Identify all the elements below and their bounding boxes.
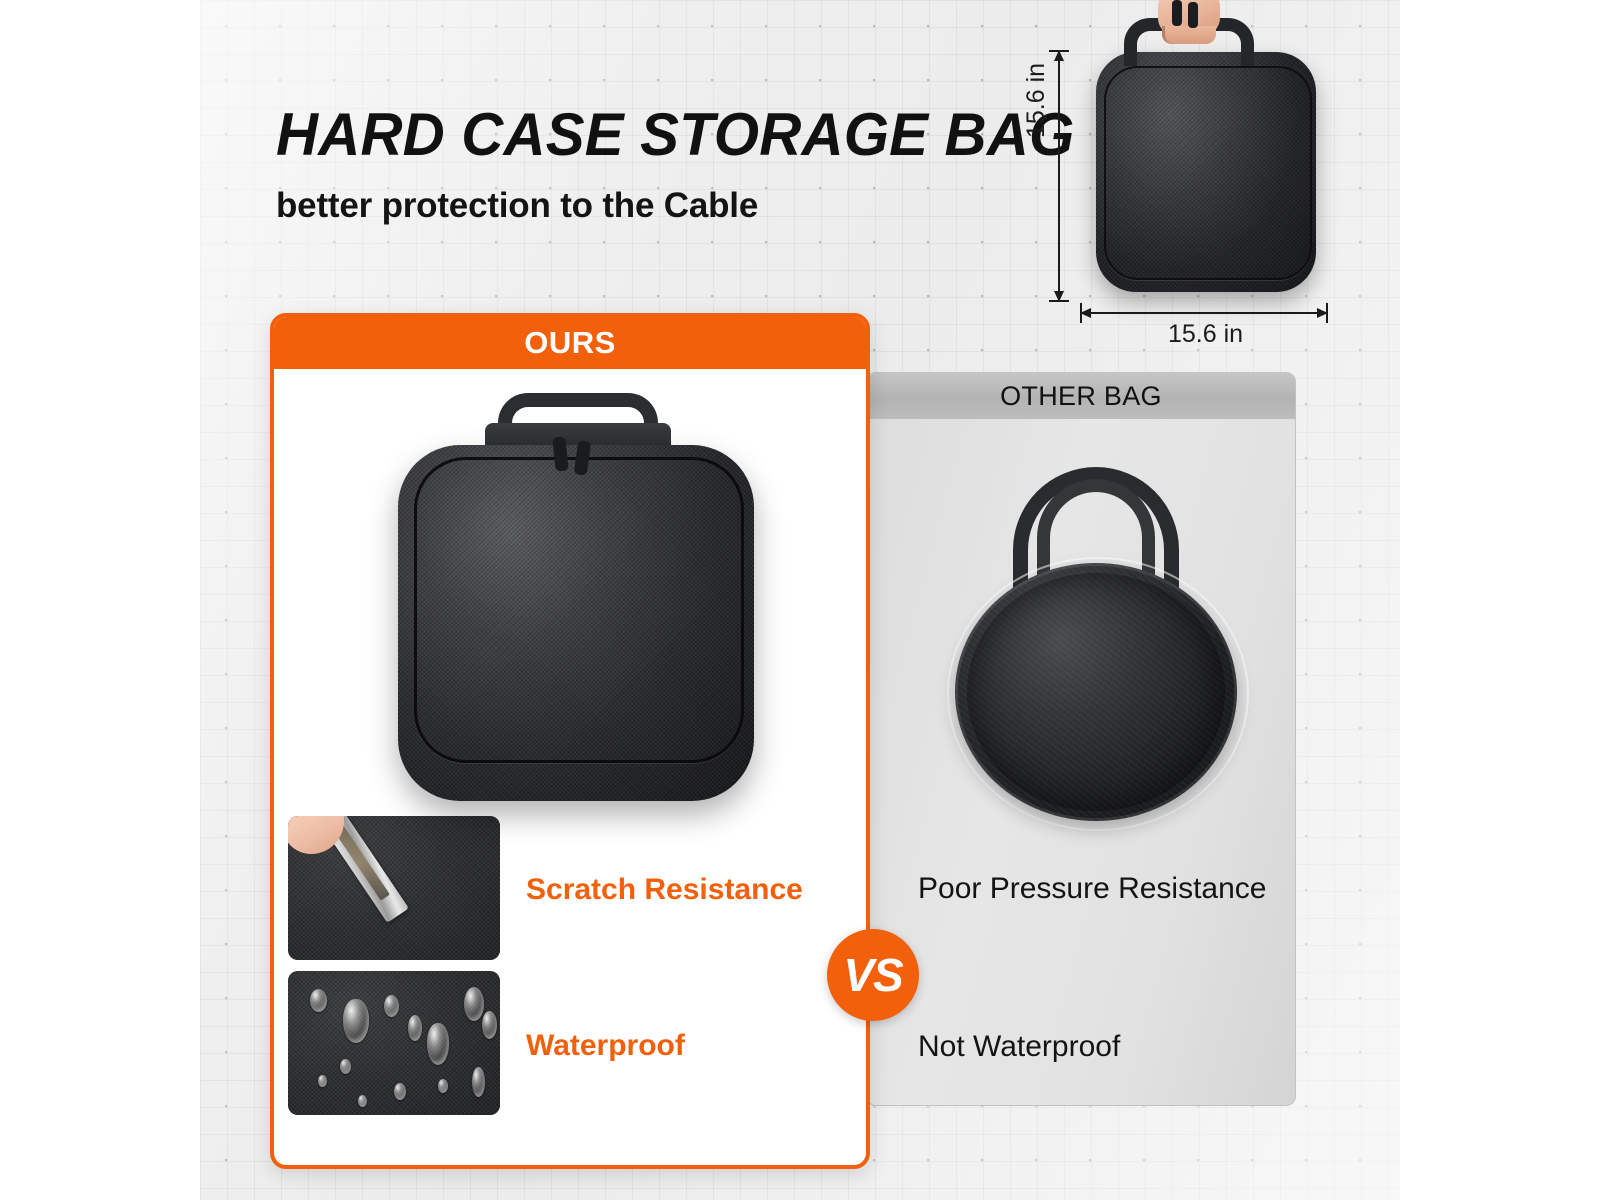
ours-product-photo bbox=[390, 393, 760, 813]
infographic-canvas: HARD CASE STORAGE BAG better protection … bbox=[0, 0, 1600, 1200]
competitor-round-bag-photo bbox=[945, 465, 1245, 821]
water-droplet-icon bbox=[318, 1075, 327, 1087]
water-droplet-icon bbox=[427, 1023, 449, 1065]
arrow-right-icon bbox=[1317, 308, 1328, 318]
water-droplet-icon bbox=[464, 987, 484, 1021]
water-droplet-icon bbox=[438, 1079, 448, 1093]
arrow-up-icon bbox=[1054, 50, 1064, 61]
water-droplet-icon bbox=[358, 1095, 367, 1107]
headline-block: HARD CASE STORAGE BAG better protection … bbox=[276, 104, 1036, 226]
case-body bbox=[398, 445, 754, 801]
vs-badge-label: VS bbox=[843, 952, 902, 998]
arrow-left-icon bbox=[1080, 308, 1091, 318]
other-bag-header: OTHER BAG bbox=[867, 373, 1295, 419]
dimension-label-height: 15.6 in bbox=[1022, 63, 1051, 138]
ours-panel: OURS bbox=[270, 313, 870, 1169]
feature-label-scratch: Scratch Resistance bbox=[526, 873, 803, 907]
zipper-track bbox=[1104, 66, 1312, 280]
dimension-line-horizontal bbox=[1080, 312, 1328, 314]
water-droplet-icon bbox=[408, 1015, 422, 1041]
ours-header-label: OURS bbox=[524, 325, 616, 361]
drawback-label-waterproof: Not Waterproof bbox=[918, 1030, 1120, 1064]
water-droplet-icon bbox=[384, 995, 399, 1017]
water-droplet-icon bbox=[310, 989, 327, 1012]
water-droplet-icon bbox=[472, 1067, 485, 1097]
drawback-label-pressure: Poor Pressure Resistance bbox=[918, 872, 1267, 906]
water-droplet-icon bbox=[343, 999, 369, 1043]
dimension-line-vertical bbox=[1058, 50, 1060, 302]
water-droplet-icon bbox=[482, 1011, 497, 1039]
hero-product-photo bbox=[1080, 0, 1330, 314]
ours-header: OURS bbox=[274, 317, 866, 369]
vs-badge: VS bbox=[827, 929, 919, 1021]
round-bag-body bbox=[955, 563, 1237, 821]
feature-label-waterproof: Waterproof bbox=[526, 1029, 685, 1063]
feature-thumbnail-waterproof bbox=[288, 971, 500, 1115]
page-subtitle: better protection to the Cable bbox=[276, 186, 1036, 226]
zipper-pull-icon bbox=[1188, 2, 1198, 28]
other-bag-panel: OTHER BAG bbox=[866, 372, 1296, 1106]
arrow-down-icon bbox=[1054, 291, 1064, 302]
zipper-pull-icon bbox=[1172, 0, 1182, 26]
page-title: HARD CASE STORAGE BAG bbox=[276, 104, 1013, 166]
hero-case-body bbox=[1096, 52, 1316, 292]
feature-thumbnail-scratch bbox=[288, 816, 500, 960]
water-droplet-icon bbox=[340, 1059, 351, 1074]
dimension-label-width: 15.6 in bbox=[1168, 320, 1243, 349]
other-bag-header-label: OTHER BAG bbox=[1000, 381, 1162, 412]
zipper-track bbox=[414, 457, 744, 763]
water-droplet-icon bbox=[394, 1083, 406, 1100]
